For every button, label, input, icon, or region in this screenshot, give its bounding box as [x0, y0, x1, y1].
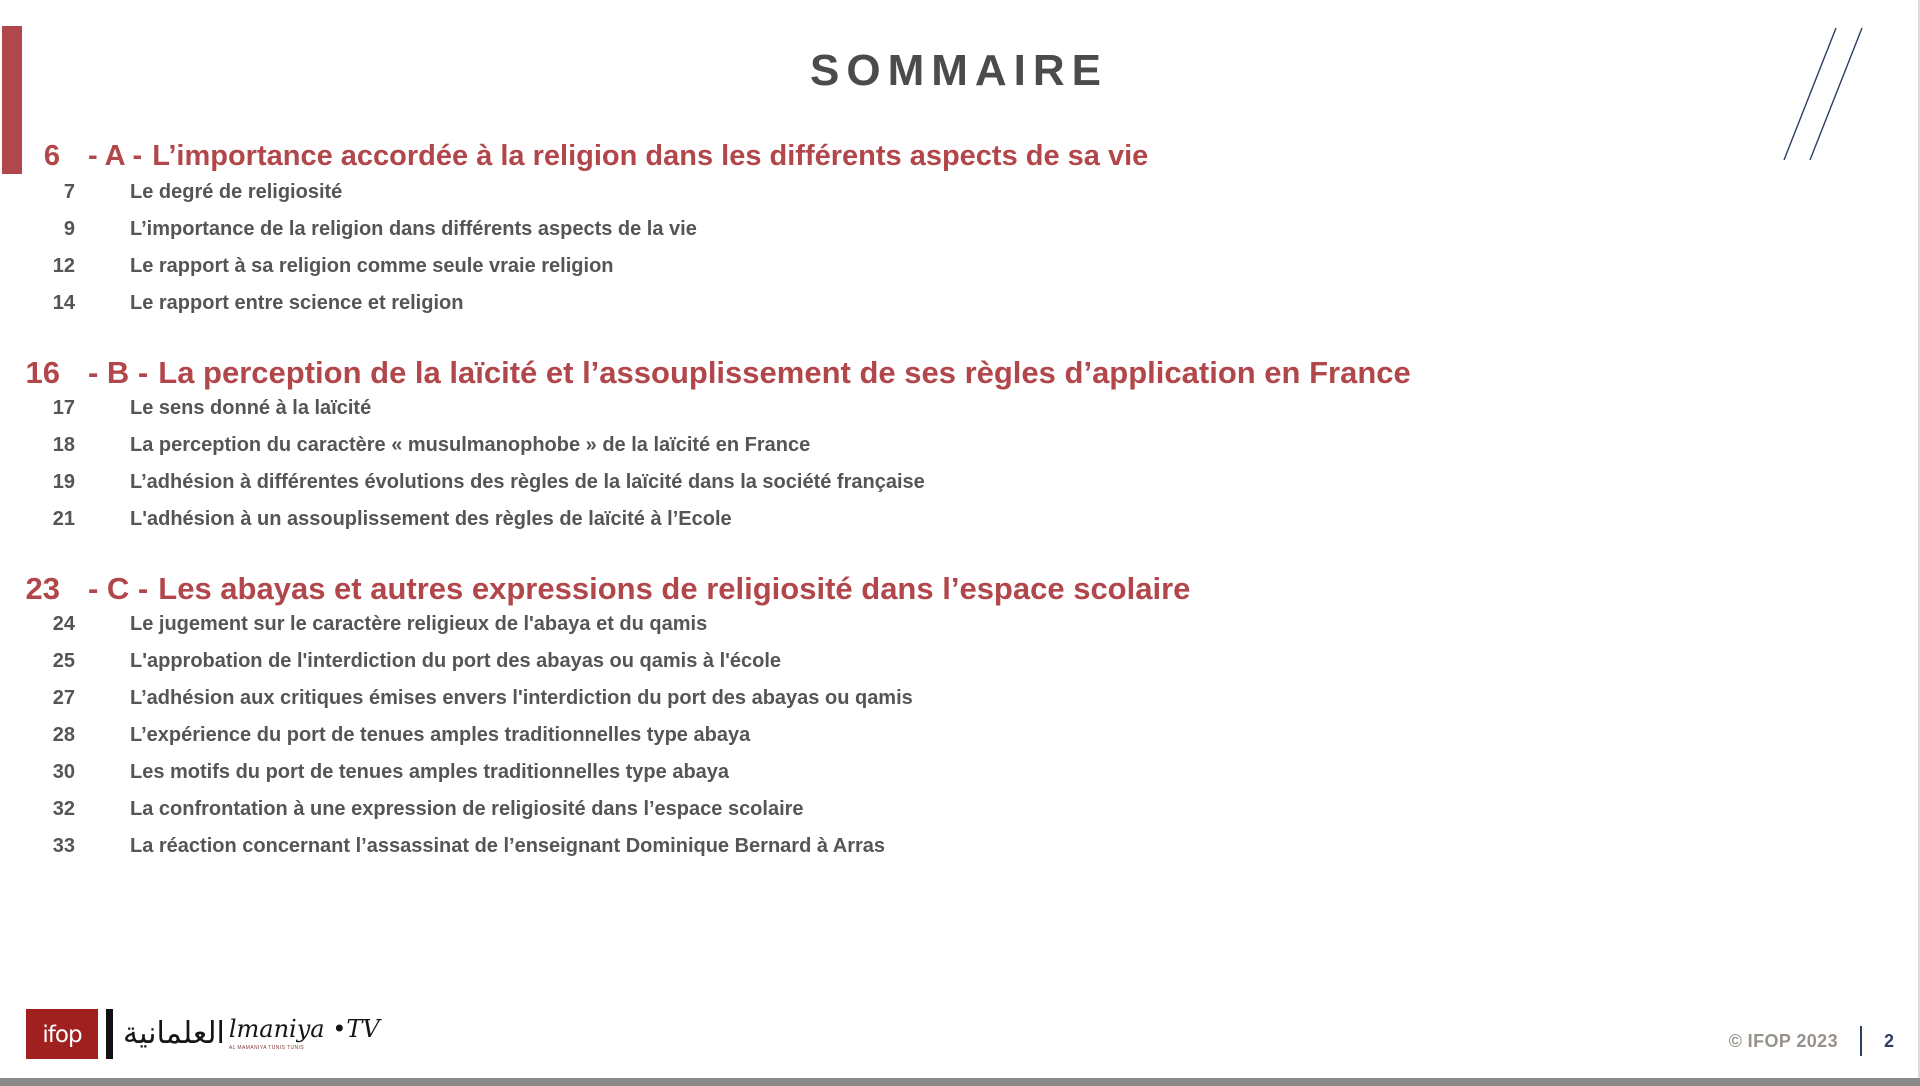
list-item[interactable]: 19 L’adhésion à différentes évolutions d…: [0, 471, 1860, 508]
item-title: Le rapport entre science et religion: [130, 292, 463, 315]
item-title: L’importance de la religion dans différe…: [130, 218, 697, 241]
almaniya-tagline: AL MAMANIYA TUNIS TUNIS: [229, 1045, 380, 1051]
section-letter: - A -: [88, 140, 142, 173]
item-page-number: 32: [0, 798, 75, 821]
footer-divider: [1860, 1026, 1862, 1056]
item-page-number: 21: [0, 508, 75, 531]
bottom-chrome-bar: [0, 1078, 1920, 1086]
footer-meta: © IFOP 2023 2: [1729, 1026, 1896, 1056]
table-of-contents: 6 - A - L’importance accordée à la relig…: [0, 140, 1860, 872]
section-title: L’importance accordée à la religion dans…: [152, 140, 1148, 173]
item-page-number: 7: [0, 181, 75, 204]
item-title: L'adhésion à un assouplissement des règl…: [130, 508, 732, 531]
item-page-number: 27: [0, 687, 75, 710]
list-item[interactable]: 12 Le rapport à sa religion comme seule …: [0, 255, 1860, 292]
logo-divider: [106, 1009, 113, 1059]
item-title: Les motifs du port de tenues amples trad…: [130, 761, 729, 784]
item-title: Le rapport à sa religion comme seule vra…: [130, 255, 614, 278]
section-heading-a[interactable]: 6 - A - L’importance accordée à la relig…: [0, 140, 1860, 173]
list-item[interactable]: 14 Le rapport entre science et religion: [0, 292, 1860, 329]
section-page-number: 6: [0, 140, 60, 173]
item-page-number: 9: [0, 218, 75, 241]
copyright-text: © IFOP 2023: [1729, 1031, 1838, 1052]
section-heading-b[interactable]: 16 - B - La perception de la laïcité et …: [0, 355, 1860, 391]
toc-section-b: 16 - B - La perception de la laïcité et …: [0, 355, 1860, 545]
list-item[interactable]: 28 L’expérience du port de tenues amples…: [0, 724, 1860, 761]
toc-section-c: 23 - C - Les abayas et autres expression…: [0, 571, 1860, 872]
list-item[interactable]: 24 Le jugement sur le caractère religieu…: [0, 613, 1860, 650]
item-page-number: 12: [0, 255, 75, 278]
item-title: Le degré de religiosité: [130, 181, 342, 204]
item-page-number: 24: [0, 613, 75, 636]
section-letter: - C -: [88, 571, 148, 607]
slide-canvas: SOMMAIRE 6 - A - L’importance accordée à…: [0, 0, 1920, 1078]
item-page-number: 19: [0, 471, 75, 494]
list-item[interactable]: 30 Les motifs du port de tenues amples t…: [0, 761, 1860, 798]
almaniya-latin-block: lmaniya •TV AL MAMANIYA TUNIS TUNIS: [229, 1017, 380, 1051]
page-title: SOMMAIRE: [0, 48, 1918, 94]
list-item[interactable]: 32 La confrontation à une expression de …: [0, 798, 1860, 835]
page-number: 2: [1882, 1031, 1896, 1052]
section-title: Les abayas et autres expressions de reli…: [158, 571, 1190, 607]
item-title: L’expérience du port de tenues amples tr…: [130, 724, 750, 747]
toc-section-a: 6 - A - L’importance accordée à la relig…: [0, 140, 1860, 329]
ifop-logo: ifop: [26, 1009, 98, 1059]
list-item[interactable]: 9 L’importance de la religion dans diffé…: [0, 218, 1860, 255]
item-title: L’adhésion à différentes évolutions des …: [130, 471, 925, 494]
item-title: L’adhésion aux critiques émises envers l…: [130, 687, 913, 710]
list-item[interactable]: 7 Le degré de religiosité: [0, 181, 1860, 218]
item-page-number: 28: [0, 724, 75, 747]
list-item[interactable]: 17 Le sens donné à la laïcité: [0, 397, 1860, 434]
item-title: La confrontation à une expression de rel…: [130, 798, 804, 821]
item-title: La réaction concernant l’assassinat de l…: [130, 835, 885, 858]
almaniya-tv-logo: العلمانية lmaniya •TV AL MAMANIYA TUNIS …: [123, 1008, 380, 1060]
list-item[interactable]: 33 La réaction concernant l’assassinat d…: [0, 835, 1860, 872]
almaniya-arabic-text: العلمانية: [123, 1019, 225, 1049]
item-page-number: 30: [0, 761, 75, 784]
section-page-number: 23: [0, 571, 60, 607]
section-heading-c[interactable]: 23 - C - Les abayas et autres expression…: [0, 571, 1860, 607]
item-page-number: 17: [0, 397, 75, 420]
section-letter: - B -: [88, 355, 148, 391]
item-title: La perception du caractère « musulmanoph…: [130, 434, 810, 457]
section-title: La perception de la laïcité et l’assoupl…: [158, 355, 1411, 391]
list-item[interactable]: 21 L'adhésion à un assouplissement des r…: [0, 508, 1860, 545]
item-page-number: 33: [0, 835, 75, 858]
almaniya-latin-text: lmaniya •TV: [229, 1017, 380, 1041]
section-page-number: 16: [0, 355, 60, 391]
item-page-number: 14: [0, 292, 75, 315]
list-item[interactable]: 25 L'approbation de l'interdiction du po…: [0, 650, 1860, 687]
item-title: Le sens donné à la laïcité: [130, 397, 371, 420]
list-item[interactable]: 27 L’adhésion aux critiques émises enver…: [0, 687, 1860, 724]
section-a-items: 7 Le degré de religiosité 9 L’importance…: [0, 181, 1860, 329]
footer-logo-group: ifop العلمانية lmaniya •TV AL MAMANIYA T…: [26, 1006, 380, 1062]
list-item[interactable]: 18 La perception du caractère « musulman…: [0, 434, 1860, 471]
item-page-number: 25: [0, 650, 75, 673]
ifop-logo-text: ifop: [42, 1024, 81, 1047]
section-b-items: 17 Le sens donné à la laïcité 18 La perc…: [0, 397, 1860, 545]
item-title: L'approbation de l'interdiction du port …: [130, 650, 781, 673]
item-page-number: 18: [0, 434, 75, 457]
item-title: Le jugement sur le caractère religieux d…: [130, 613, 707, 636]
section-c-items: 24 Le jugement sur le caractère religieu…: [0, 613, 1860, 872]
